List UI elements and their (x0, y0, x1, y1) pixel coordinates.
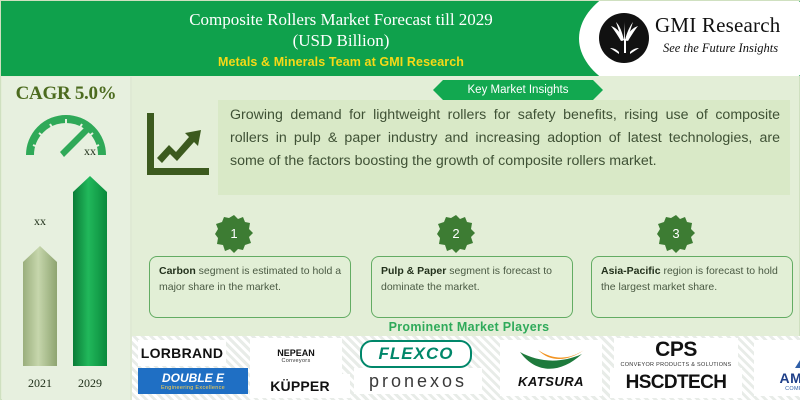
badge-number-1: 1 (215, 215, 253, 253)
logo-amalga: AMALGA COMPOSITES, INC (754, 340, 800, 396)
growth-chart-icon (145, 111, 211, 177)
amalga-mark-icon (789, 344, 800, 370)
cagr-panel: CAGR 5.0% xx (2, 77, 132, 400)
logo-kupper: KÜPPER (250, 374, 350, 398)
bar-2021 (23, 246, 57, 371)
logo-double-e: DOUBLE E Engineering Excellence (138, 368, 248, 394)
logo-nepean-sub: Conveyors (282, 358, 311, 364)
insight-card-text-3: Asia-Pacific region is forecast to hold … (601, 263, 785, 295)
logo-katsura: KATSURA (500, 340, 602, 396)
logo-flexco-text: FLEXCO (379, 344, 454, 364)
bar-2029 (73, 176, 107, 371)
insight-card-1: 1 Carbon segment is estimated to hold a … (149, 256, 351, 318)
badge-number-2: 2 (437, 215, 475, 253)
logo-hscdtech-text: HSCDTECH (626, 372, 727, 394)
logo-double-e-sub: Engineering Excellence (161, 385, 225, 391)
logo-nepean-text: NEPEAN (277, 348, 315, 358)
logo-amalga-text: AMALGA (779, 370, 800, 386)
insight-card-text-2: Pulp & Paper segment is forecast to domi… (381, 263, 565, 295)
bar-year-2021: 2021 (23, 376, 57, 391)
players-logo-strip: LORBRAND DOUBLE E Engineering Excellence… (132, 336, 800, 400)
insight-card-keyword-3: Asia-Pacific (601, 265, 661, 277)
insight-card-2: 2 Pulp & Paper segment is forecast to do… (371, 256, 573, 318)
palm-tree-icon (599, 13, 649, 63)
key-insights-panel: Growing demand for lightweight rollers f… (218, 100, 790, 195)
badge-number-3: 3 (657, 215, 695, 253)
logo-pronexos: pronexos (354, 368, 482, 394)
badge-3: 3 (657, 215, 695, 253)
page-title: Composite Rollers Market Forecast till 2… (121, 9, 561, 51)
logo-lorbrand-text: LORBRAND (141, 345, 224, 361)
logo-cps: CPS CONVEYOR PRODUCTS & SOLUTIONS (614, 338, 738, 368)
logo-kupper-text: KÜPPER (270, 378, 330, 394)
players-section-title: Prominent Market Players (149, 320, 789, 334)
insight-card-keyword-2: Pulp & Paper (381, 265, 446, 277)
page-title-line1: Composite Rollers Market Forecast till 2… (121, 9, 561, 30)
katsura-swoosh-icon (516, 348, 586, 374)
logo-lorbrand: LORBRAND (138, 340, 226, 366)
logo-double-e-text: DOUBLE E (162, 371, 224, 385)
logo-pronexos-text: pronexos (369, 371, 467, 392)
market-forecast-infographic: Composite Rollers Market Forecast till 2… (0, 0, 800, 400)
bar-value-2029: xx (73, 144, 107, 159)
gmi-research-logo: GMI Research See the Future Insights (593, 11, 793, 67)
bar-value-2021: xx (23, 214, 57, 229)
logo-amalga-sub: COMPOSITES, INC (785, 386, 800, 392)
insight-card-keyword-1: Carbon (159, 265, 196, 277)
page-subtitle: Metals & Minerals Team at GMI Research (121, 55, 561, 69)
insight-card-body-3: Asia-Pacific region is forecast to hold … (591, 256, 793, 318)
logo-flexco: FLEXCO (360, 340, 472, 368)
brand-tagline: See the Future Insights (663, 41, 778, 56)
key-insights-text: Growing demand for lightweight rollers f… (230, 104, 780, 173)
badge-2: 2 (437, 215, 475, 253)
key-insights-ribbon: Key Market Insights (433, 80, 603, 100)
insight-card-body-1: Carbon segment is estimated to hold a ma… (149, 256, 351, 318)
insight-card-text-1: Carbon segment is estimated to hold a ma… (159, 263, 343, 295)
logo-cps-text: CPS (655, 338, 697, 362)
header-banner: Composite Rollers Market Forecast till 2… (1, 1, 800, 76)
brand-name: GMI Research (655, 13, 780, 38)
badge-1: 1 (215, 215, 253, 253)
logo-katsura-text: KATSURA (518, 374, 584, 389)
logo-hscdtech: HSCDTECH (610, 368, 742, 398)
cagr-value-label: CAGR 5.0% (2, 83, 130, 105)
insight-card-3: 3 Asia-Pacific region is forecast to hol… (591, 256, 793, 318)
logo-nepean: NEPEAN Conveyors (250, 338, 342, 374)
insight-card-body-2: Pulp & Paper segment is forecast to domi… (371, 256, 573, 318)
forecast-bar-chart: xx 2021 x (2, 173, 130, 393)
page-title-line2: (USD Billion) (121, 30, 561, 51)
bar-year-2029: 2029 (73, 376, 107, 391)
